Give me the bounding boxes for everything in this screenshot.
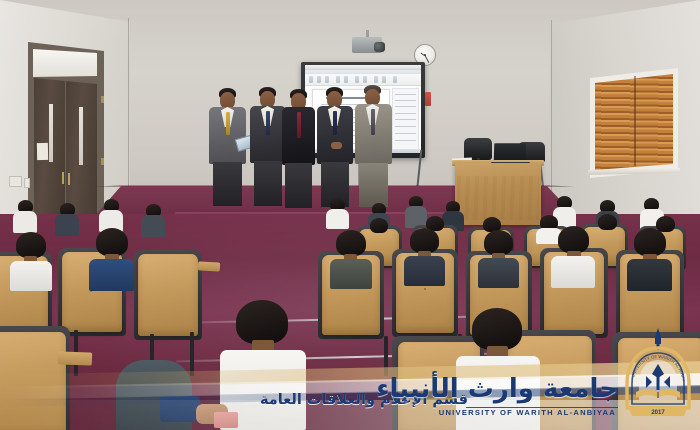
projector-lens [374, 42, 385, 52]
ribbon-icon-1 [309, 76, 313, 83]
wall-outlet-1 [9, 176, 22, 187]
lecture-hall-photograph: قسم الإعلام والعلاقات العامة جامعة وارث … [0, 0, 700, 430]
app-ribbon-toolbar [305, 74, 421, 86]
ribbon-icon-7 [363, 76, 367, 83]
ribbon-icon-4 [336, 76, 340, 83]
door-glass-panel-left [49, 104, 53, 162]
ribbon-icon-10 [393, 76, 397, 83]
wall-mounted-fixture [425, 92, 431, 106]
door-hinge-upper [101, 96, 104, 103]
student-r1c-sleeve [160, 396, 200, 422]
ribbon-icon-3 [325, 76, 329, 83]
door-hinge-mid [101, 158, 104, 165]
ribbon-icon-2 [317, 76, 321, 83]
ribbon-icon-5 [344, 76, 348, 83]
door-handle-left [62, 172, 64, 184]
desk-wood-grain [457, 176, 539, 220]
ribbon-icon-6 [355, 76, 359, 83]
blind-center-divider [634, 76, 636, 166]
presenter-4-hands [331, 142, 342, 149]
document-side-pane [392, 88, 419, 151]
door-handle-right [68, 173, 70, 185]
clock-center-pin [424, 54, 426, 56]
student-r1c-object [214, 412, 238, 428]
door-notice-paper [37, 143, 48, 160]
door-glass-panel-right [79, 107, 83, 165]
wall-outlet-2 [24, 178, 30, 188]
ribbon-icon-8 [374, 76, 378, 83]
clock-minute-hand [424, 55, 429, 63]
door-transom-window [33, 49, 97, 77]
ribbon-icon-9 [382, 76, 386, 83]
